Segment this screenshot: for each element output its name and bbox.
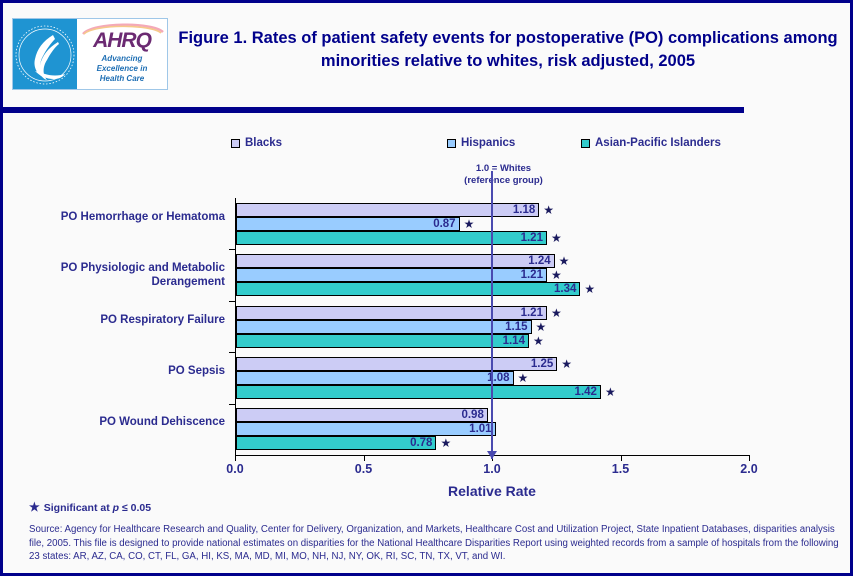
x-axis-tick-label: 0.5 [334,462,394,476]
y-axis-tick [229,301,235,302]
x-axis-tick [364,455,365,461]
bar-value-label: 1.15 [505,321,527,333]
significance-star-icon: ★ [551,232,562,244]
ahrq-tagline-line1: Advancing [102,54,143,63]
significance-star-icon: ★ [559,255,570,267]
bar[interactable]: 1.21 [236,231,547,245]
bar[interactable]: 0.98 [236,408,488,422]
significance-star-icon: ★ [605,386,616,398]
reference-note-line1: 1.0 = Whites [476,163,531,174]
legend-label: Asian-Pacific Islanders [595,137,721,149]
y-axis-tick [229,352,235,353]
bar-value-label: 0.87 [433,218,455,230]
bar-value-label: 1.42 [575,386,597,398]
legend-label: Hispanics [461,137,515,149]
x-axis-tick-label: 0.0 [205,462,265,476]
bar[interactable]: 1.18 [236,203,539,217]
bar[interactable]: 1.21 [236,268,547,282]
x-axis-tick [749,455,750,461]
bar-value-label: 1.14 [503,335,525,347]
figure-header: AHRQ Advancing Excellence in Health Care… [3,3,850,106]
figure-title: Figure 1. Rates of patient safety events… [178,27,838,73]
ahrq-tagline-line2: Excellence in [97,64,148,73]
significance-star-icon: ★ [536,321,547,333]
y-axis-category-label: PO Respiratory Failure [50,313,225,327]
ahrq-tagline: Advancing Excellence in Health Care [97,54,148,84]
bar[interactable]: 0.78 [236,436,436,450]
significance-star-icon: ★ [561,358,572,370]
header-divider [3,107,744,113]
bar[interactable]: 1.14 [236,334,529,348]
reference-group-note: 1.0 = Whites (reference group) [411,163,596,187]
x-axis-tick-label: 2.0 [719,462,779,476]
legend-item-asian-pacific-islanders[interactable]: Asian-Pacific Islanders [581,137,721,149]
legend-swatch-icon [231,139,240,148]
chart-plot-area: Relative Rate 0.00.51.01.52.0PO Hemorrha… [235,198,749,455]
significance-suffix: ≤ 0.05 [119,502,151,514]
bar[interactable]: 1.34 [236,282,580,296]
legend-item-hispanics[interactable]: Hispanics [447,137,515,149]
hhs-seal-icon [13,19,77,89]
reference-line-arrow-icon [487,451,497,459]
y-axis-tick [229,249,235,250]
significance-star-icon: ★ [440,437,451,449]
figure-page: AHRQ Advancing Excellence in Health Care… [0,0,853,576]
legend-label: Blacks [245,137,282,149]
ahrq-logo: AHRQ Advancing Excellence in Health Care [12,18,168,90]
significance-star-icon: ★ [543,204,554,216]
legend-swatch-icon [447,139,456,148]
bar-value-label: 1.25 [531,358,553,370]
ahrq-letters: AHRQ [93,30,151,51]
significance-star-icon: ★ [464,218,475,230]
bar[interactable]: 1.21 [236,306,547,320]
significance-star-icon: ★ [551,307,562,319]
bar-value-label: 1.24 [528,255,550,267]
reference-note-line2: (reference group) [464,175,543,186]
bar[interactable]: 1.01 [236,422,496,436]
ahrq-wordmark: AHRQ Advancing Excellence in Health Care [77,19,167,89]
bar-value-label: 1.21 [521,232,543,244]
reference-line [491,171,493,459]
x-axis-title: Relative Rate [235,483,749,499]
bar-value-label: 1.01 [469,423,491,435]
bar[interactable]: 1.24 [236,254,555,268]
bar-value-label: 1.18 [513,204,535,216]
source-note: Source: Agency for Healthcare Research a… [29,523,839,564]
x-axis-tick [621,455,622,461]
y-axis-category-label: PO Wound Dehiscence [50,415,225,429]
chart-legend: BlacksHispanicsAsian-Pacific Islanders [231,137,681,153]
bar-value-label: 1.21 [521,307,543,319]
y-axis-category-label: PO Sepsis [50,364,225,378]
x-axis-tick [235,455,236,461]
bar-value-label: 1.34 [554,283,576,295]
significance-prefix: Significant at [44,502,113,514]
significance-star-icon: ★ [584,283,595,295]
bar[interactable]: 1.15 [236,320,532,334]
y-axis-category-label: PO Physiologic and Metabolic Derangement [50,261,225,289]
significance-star-icon: ★ [533,335,544,347]
bar-value-label: 0.98 [461,409,483,421]
x-axis-tick-label: 1.5 [591,462,651,476]
bar-value-label: 0.78 [410,437,432,449]
bar[interactable]: 0.87 [236,217,460,231]
bar[interactable]: 1.42 [236,385,601,399]
star-icon: ★ [29,500,40,514]
significance-star-icon: ★ [518,372,529,384]
significance-footnote: ★Significant at p ≤ 0.05 [29,500,151,514]
y-axis-category-label: PO Hemorrhage or Hematoma [50,210,225,224]
x-axis-tick-label: 1.0 [462,462,522,476]
significance-star-icon: ★ [551,269,562,281]
bar-value-label: 1.21 [521,269,543,281]
legend-swatch-icon [581,139,590,148]
y-axis-tick [229,404,235,405]
bar[interactable]: 1.08 [236,371,514,385]
ahrq-tagline-line3: Health Care [100,74,144,83]
legend-item-blacks[interactable]: Blacks [231,137,282,149]
bar[interactable]: 1.25 [236,357,557,371]
